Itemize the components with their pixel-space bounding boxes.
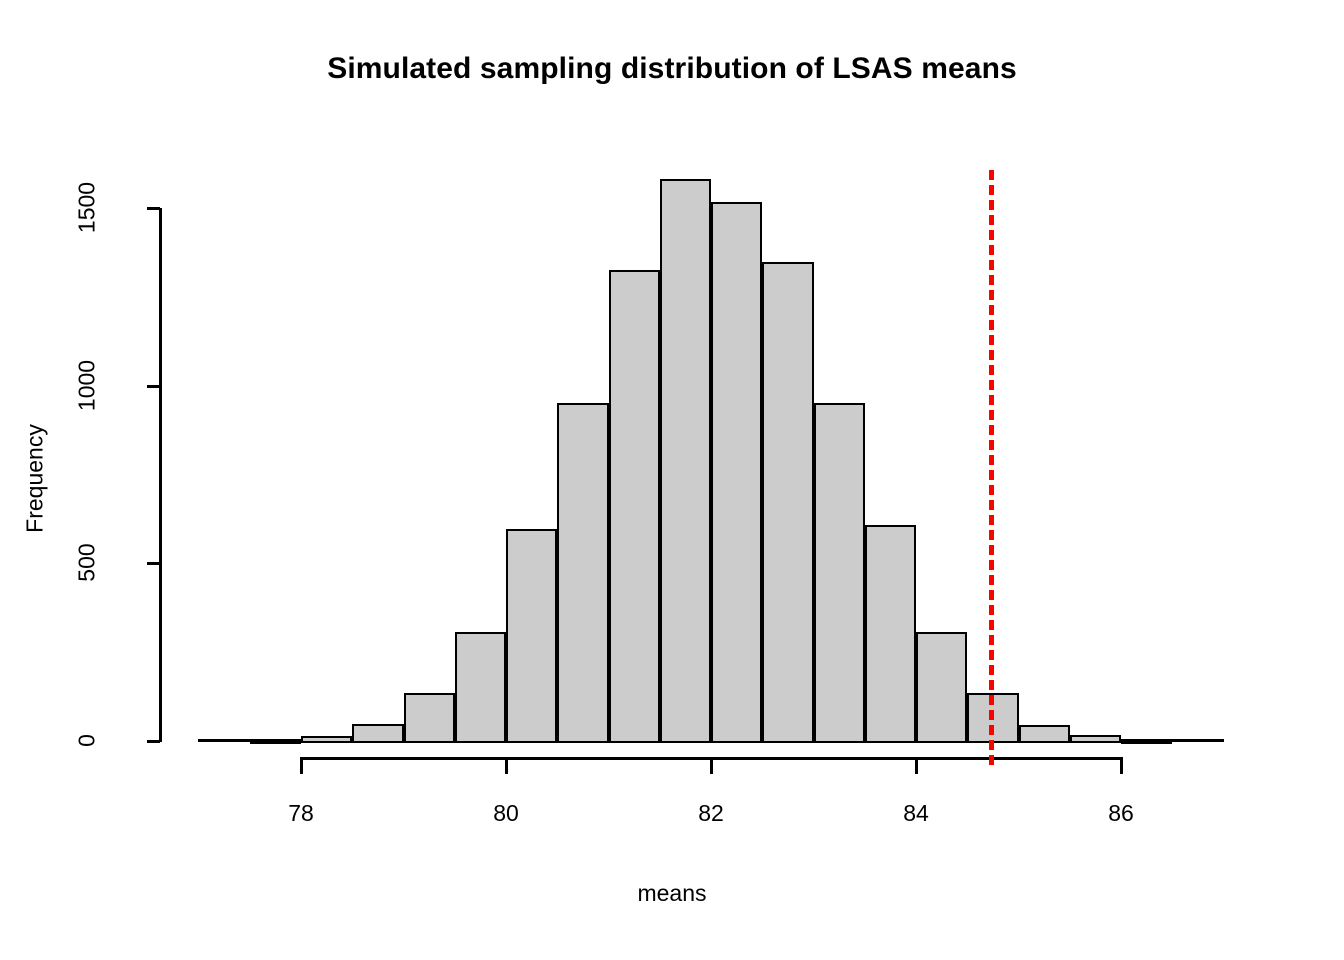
histogram-bar	[455, 632, 506, 743]
x-axis-tick	[1120, 757, 1123, 774]
histogram-bar	[762, 262, 813, 743]
y-axis-line	[159, 208, 162, 742]
histogram-bar	[404, 693, 455, 743]
y-axis-tick-label: 0	[74, 696, 101, 786]
histogram-bar	[814, 403, 865, 743]
histogram-bar	[506, 529, 557, 743]
y-axis-tick	[147, 562, 160, 565]
histogram-bar	[557, 403, 608, 743]
histogram-bar	[250, 740, 301, 744]
histogram-bar	[916, 632, 967, 743]
histogram-bar	[301, 736, 352, 743]
histogram-bar	[865, 525, 916, 743]
y-axis-tick-label: 1000	[74, 340, 101, 430]
x-axis-tick	[915, 757, 918, 774]
y-axis-tick-label: 500	[74, 518, 101, 608]
x-axis-tick-label: 82	[671, 800, 751, 827]
x-axis-tick	[505, 757, 508, 774]
histogram-plot: Simulated sampling distribution of LSAS …	[0, 0, 1344, 960]
y-axis-tick	[147, 207, 160, 210]
y-axis-label: Frequency	[22, 229, 49, 729]
histogram-bar	[609, 270, 660, 743]
observed-mean-line	[989, 170, 994, 765]
x-axis-tick-label: 86	[1081, 800, 1161, 827]
y-axis-tick	[147, 740, 160, 743]
page-title: Simulated sampling distribution of LSAS …	[0, 52, 1344, 86]
histogram-bar	[1121, 740, 1172, 744]
x-axis-label: means	[0, 880, 1344, 907]
x-axis-tick-label: 78	[261, 800, 341, 827]
x-axis-tick	[710, 757, 713, 774]
histogram-bar	[711, 202, 762, 743]
histogram-bar	[660, 179, 711, 743]
y-axis-tick-label: 1500	[74, 163, 101, 253]
histogram-bar	[352, 724, 403, 743]
y-axis-tick	[147, 385, 160, 388]
x-axis-tick	[300, 757, 303, 774]
histogram-bar	[1070, 735, 1121, 743]
histogram-bar	[1019, 725, 1070, 743]
x-axis-tick-label: 80	[466, 800, 546, 827]
x-axis-tick-label: 84	[876, 800, 956, 827]
